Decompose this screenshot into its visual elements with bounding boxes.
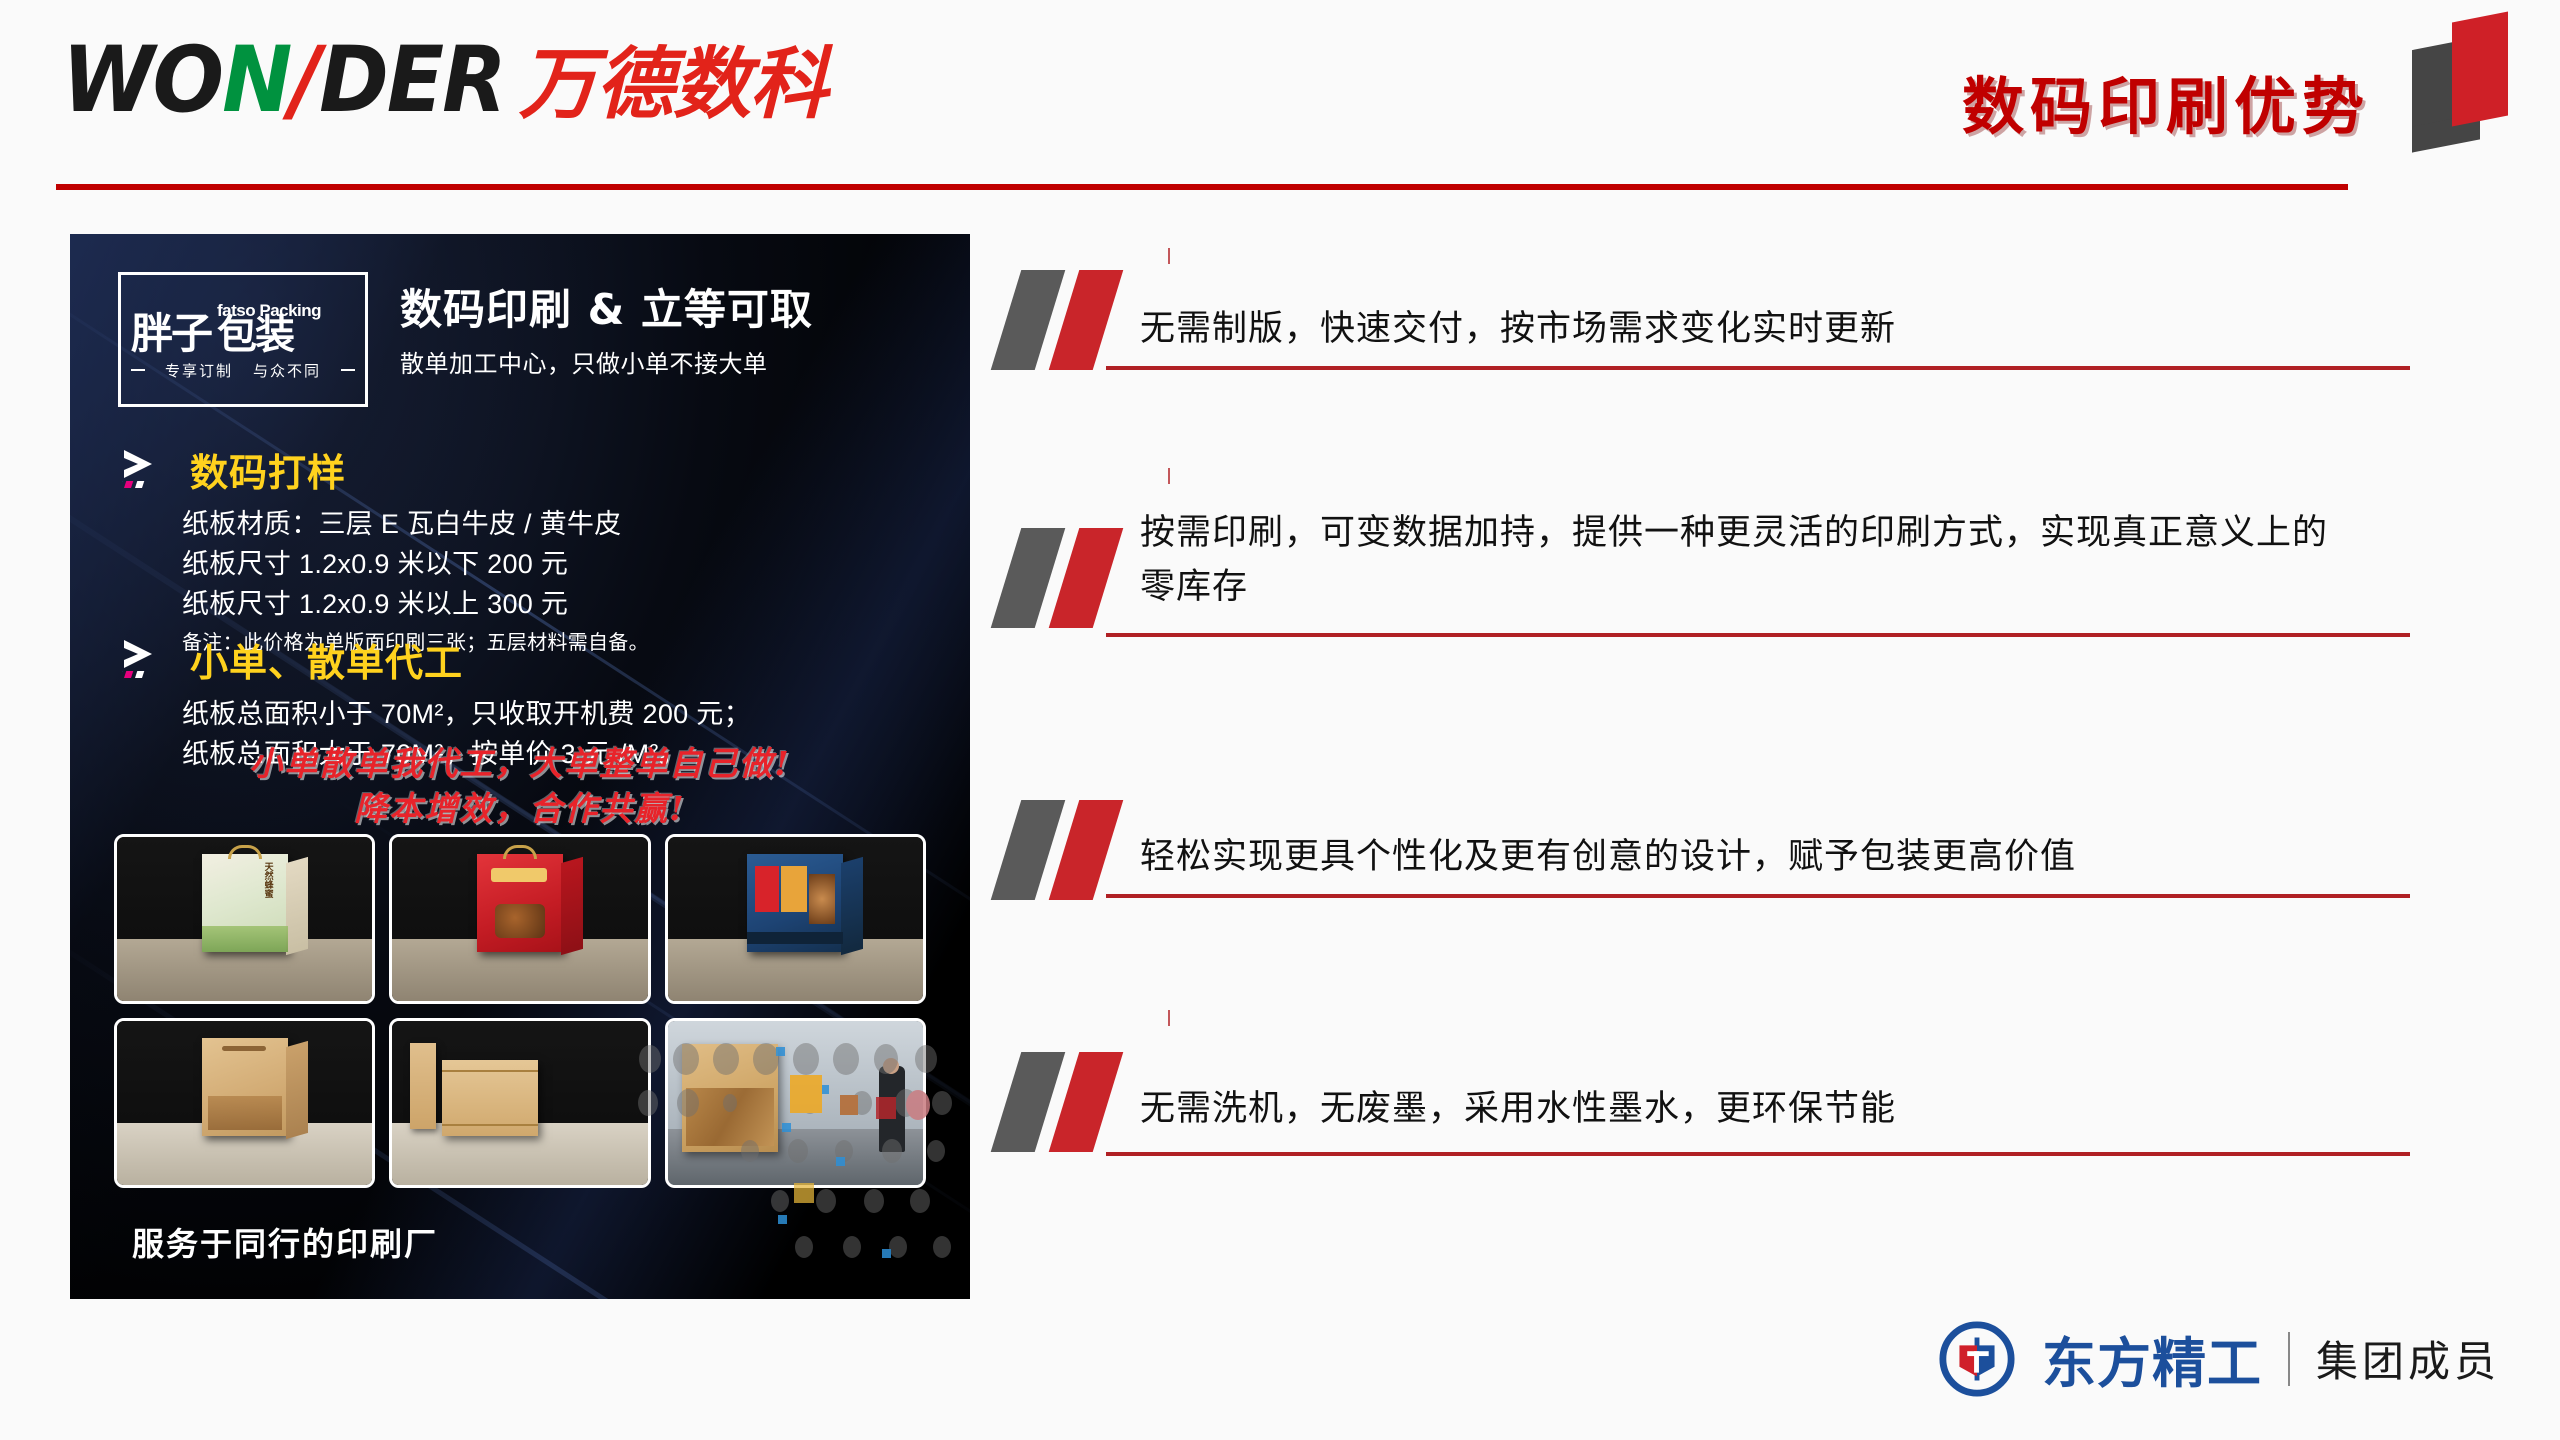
- advantage-item-3: 轻松实现更具个性化及更有创意的设计，赋予包装更高价值: [990, 806, 2410, 956]
- wonder-wordmark: WON/DER: [62, 38, 505, 124]
- advantage-text-4: 无需洗机，无废墨，采用水性墨水，更环保节能: [1140, 1036, 2410, 1146]
- advantage-item-4: 无需洗机，无废墨，采用水性墨水，更环保节能: [990, 1036, 2410, 1186]
- fatso-tag-right: 与众不同: [253, 360, 321, 381]
- section-line: 纸板尺寸 1.2x0.9 米以下 200 元: [182, 545, 649, 585]
- wonder-der: DER: [319, 27, 505, 133]
- poster-subheadline: 散单加工中心，只做小单不接大单: [400, 344, 940, 379]
- fatso-brand-cn2: 包装: [217, 316, 321, 354]
- section-line: 纸板尺寸 1.2x0.9 米以上 300 元: [182, 585, 649, 625]
- wonder-wo: WO: [62, 27, 222, 133]
- poster-slogan: 小单散单我代工，大单整单自己做! 降本增效，合作共赢!: [70, 742, 970, 831]
- product-photo-kraft-handle-box: [114, 1018, 375, 1188]
- advantages-list: 无需制版，快速交付，按市场需求变化实时更新 按需印刷，可变数据加持，提供一种更灵…: [990, 270, 2410, 1186]
- wonder-chinese-name: 万德数科: [519, 46, 827, 124]
- promo-poster-image: 胖子 fatso Packing 包装 专享订制 与众不同 数码印刷 & 立等可…: [70, 234, 970, 1299]
- advantage-underline: [1106, 894, 2410, 898]
- bullet-marker-icon: [1002, 528, 1152, 628]
- bullet-marker-icon: [1002, 800, 1152, 900]
- advantage-text-1: 无需制版，快速交付，按市场需求变化实时更新: [1140, 270, 2410, 366]
- section-title-1: 小单、散单代工: [190, 632, 463, 687]
- product-photo-beef-dumpling-box: [665, 834, 926, 1004]
- poster-footer-text: 服务于同行的印刷厂: [132, 1219, 438, 1265]
- fatso-brand-cn1: 胖子: [131, 314, 211, 354]
- product-photo-red-gift-box: [389, 834, 650, 1004]
- bullet-marker-icon: [1002, 270, 1152, 370]
- advantage-item-1: 无需制版，快速交付，按市场需求变化实时更新: [990, 270, 2410, 420]
- bullet-marker-icon: [1002, 1052, 1152, 1152]
- corner-decoration-icon: [2404, 4, 2524, 154]
- slide-root: WON/DER 万德数科 数码印刷优势 胖子 fatso Packing 包装: [0, 0, 2560, 1440]
- product-photo-classic-wine-box: [389, 1018, 650, 1188]
- wonder-n-green: N: [222, 27, 290, 133]
- section-title-0: 数码打样: [190, 442, 346, 497]
- wonder-logo: WON/DER 万德数科: [62, 44, 827, 124]
- chevron-right-icon: [122, 638, 176, 682]
- fatso-tag-left: 专享订制: [165, 360, 233, 381]
- chevron-right-icon: [122, 448, 176, 492]
- advantage-text-3: 轻松实现更具个性化及更有创意的设计，赋予包装更高价值: [1140, 806, 2410, 894]
- section-line: 纸板总面积小于 70M²，只收取开机费 200 元；: [182, 695, 751, 735]
- page-title: 数码印刷优势: [1962, 56, 2370, 146]
- fatso-brand-logo: 胖子 fatso Packing 包装 专享订制 与众不同: [118, 272, 368, 407]
- dongfang-jinggong-logo: 东方精工 集团成员: [1938, 1319, 2500, 1398]
- advantage-underline: [1106, 1152, 2410, 1156]
- slogan-line-2: 降本增效，合作共赢!: [70, 787, 970, 832]
- product-photo-honey-gift-box: 天然蜂蜜: [114, 834, 375, 1004]
- halftone-dots-decoration: [630, 1039, 970, 1299]
- wonder-n-red: /: [290, 27, 319, 133]
- section-line: 纸板材质：三层 E 瓦白牛皮 / 黄牛皮: [182, 505, 649, 545]
- slogan-line-1: 小单散单我代工，大单整单自己做!: [70, 742, 970, 787]
- footer-member-label: 集团成员: [2316, 1328, 2500, 1389]
- advantage-underline: [1106, 366, 2410, 370]
- poster-headline-block: 数码印刷 & 立等可取 散单加工中心，只做小单不接大单: [400, 286, 940, 379]
- advantage-underline: [1106, 633, 2410, 637]
- header-divider: [56, 184, 2348, 190]
- footer-divider: [2288, 1332, 2290, 1386]
- poster-headline: 数码印刷 & 立等可取: [400, 286, 940, 334]
- advantage-text-2: 按需印刷，可变数据加持，提供一种更灵活的印刷方式，实现真正意义上的零库存: [1140, 504, 2330, 625]
- dongfang-company-name: 东方精工: [2042, 1319, 2262, 1398]
- advantage-item-2: 按需印刷，可变数据加持，提供一种更灵活的印刷方式，实现真正意义上的零库存: [990, 504, 2410, 734]
- dongfang-emblem-icon: [1938, 1320, 2016, 1398]
- poster-section-digital-proofing: 数码打样 纸板材质：三层 E 瓦白牛皮 / 黄牛皮 纸板尺寸 1.2x0.9 米…: [122, 442, 649, 658]
